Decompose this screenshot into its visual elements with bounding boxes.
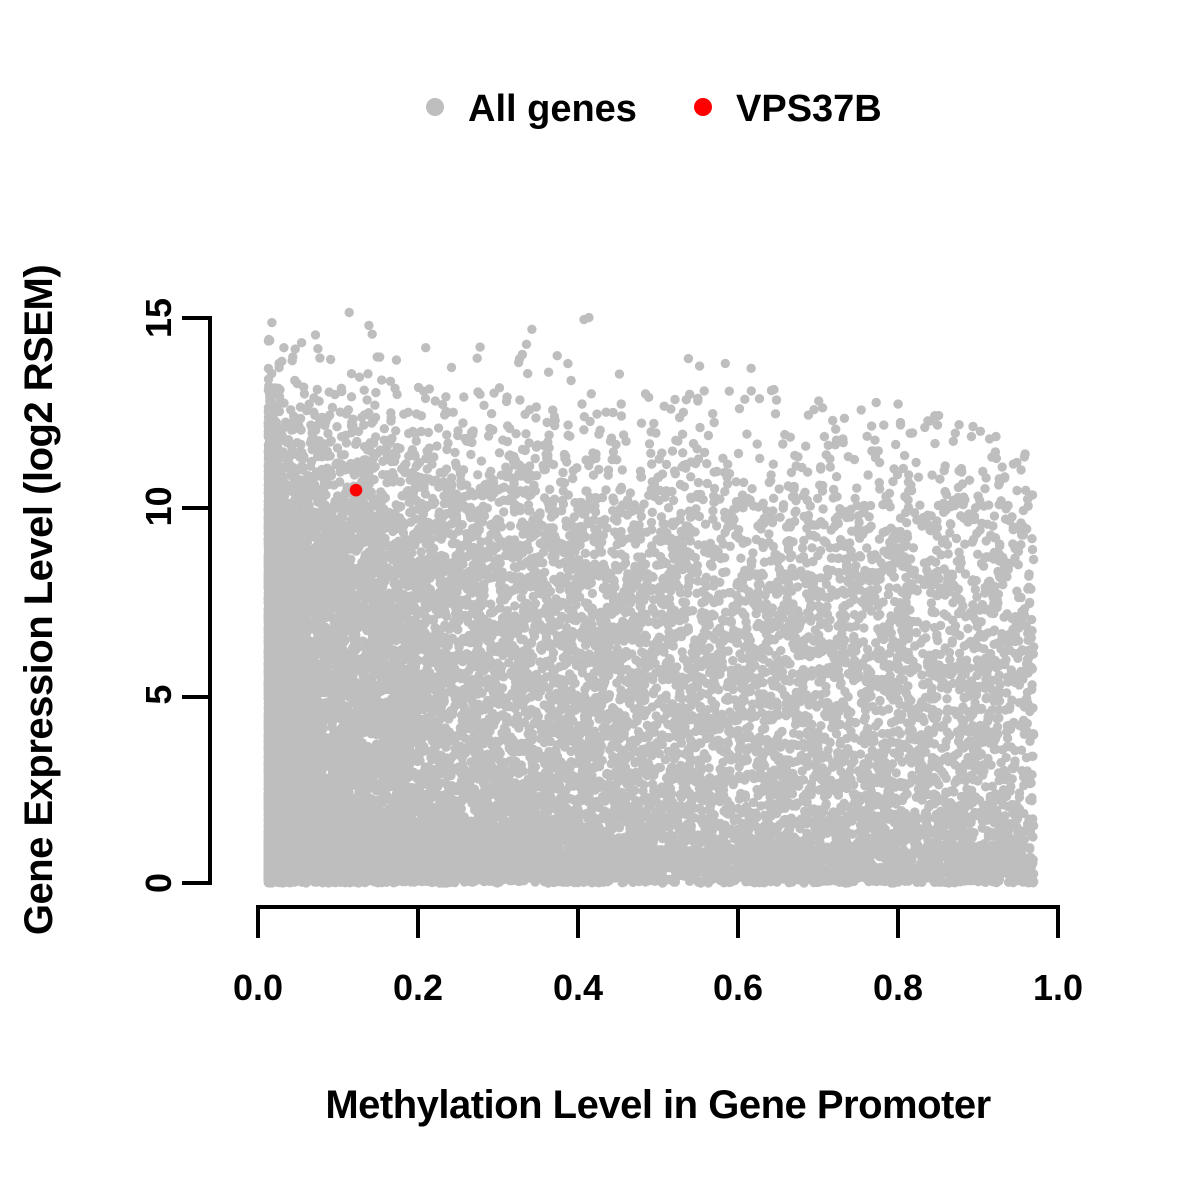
y-tick-label: 10 bbox=[138, 486, 179, 526]
x-tick-label: 0.4 bbox=[553, 967, 603, 1008]
legend: All genes VPS37B bbox=[426, 88, 882, 130]
legend-marker-all-genes bbox=[426, 98, 444, 116]
plot-canvas: 051015 0.00.20.40.60.81.0 Gene Expressio… bbox=[0, 0, 1200, 1200]
y-tick-label: 0 bbox=[138, 873, 179, 893]
legend-label-vps37b: VPS37B bbox=[736, 88, 882, 130]
x-tick-label: 0.8 bbox=[873, 967, 923, 1008]
x-tick-label: 1.0 bbox=[1033, 967, 1083, 1008]
x-axis-title: Methylation Level in Gene Promoter bbox=[325, 1083, 990, 1127]
x-tick-label: 0.6 bbox=[713, 967, 763, 1008]
legend-marker-vps37b bbox=[694, 98, 712, 116]
x-tick-label: 0.0 bbox=[233, 967, 283, 1008]
y-axis-tick-labels: 051015 bbox=[138, 298, 179, 893]
y-axis-line bbox=[182, 318, 210, 883]
x-axis-line bbox=[258, 907, 1058, 938]
y-axis-title: Gene Expression Level (log2 RSEM) bbox=[17, 265, 61, 935]
legend-label-all-genes: All genes bbox=[468, 88, 637, 130]
y-tick-label: 5 bbox=[138, 685, 179, 705]
x-tick-label: 0.2 bbox=[393, 967, 443, 1008]
y-tick-label: 15 bbox=[138, 298, 179, 338]
x-axis-tick-labels: 0.00.20.40.60.81.0 bbox=[233, 967, 1083, 1008]
scatter-plot-figure: 051015 0.00.20.40.60.81.0 Gene Expressio… bbox=[0, 0, 1200, 1200]
scatter-points-all-genes bbox=[264, 308, 1039, 888]
scatter-point-vps37b bbox=[350, 484, 363, 497]
vps37b-point bbox=[350, 484, 363, 497]
